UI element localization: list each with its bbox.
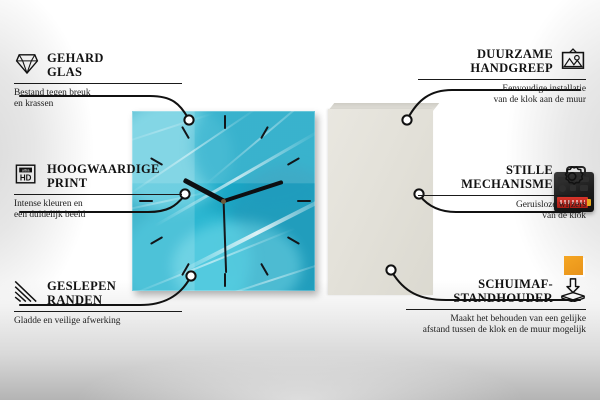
feature-rule — [14, 194, 182, 195]
feature-subtitle: Eenvoudige installatie van de klok aan d… — [418, 84, 586, 107]
diamond-icon — [14, 52, 40, 76]
svg-text:ultra: ultra — [22, 168, 31, 173]
gear-icon — [560, 164, 586, 188]
connector-dot-geslepen-randen — [186, 271, 195, 280]
feature-title: DUURZAME HANDGREEP — [470, 48, 553, 75]
feature-schuimafstandhouder: SCHUIMAF- STANDHOUDER Maakt het behouden… — [406, 278, 586, 337]
connector-dot-duurzame-handgreep — [402, 115, 411, 124]
feature-title: GESLEPEN RANDEN — [47, 280, 116, 307]
connector-dot-schuimafstandhouder — [386, 265, 395, 274]
hatched-triangle-icon — [14, 280, 40, 304]
ultra-hd-badge-icon: ultra HD — [14, 163, 40, 187]
picture-frame-icon — [560, 48, 586, 72]
feature-subtitle: Geruisloze wijzers van de klok — [418, 200, 586, 223]
feature-hoogwaardige-print: ultra HD HOOGWAARDIGE PRINT Intense kleu… — [14, 163, 182, 222]
feature-rule — [406, 309, 586, 310]
svg-text:HD: HD — [20, 173, 32, 182]
press-down-pad-icon — [560, 278, 586, 302]
feature-subtitle: Intense kleuren en een duidelijk beeld — [14, 199, 182, 222]
feature-geslepen-randen: GESLEPEN RANDEN Gladde en veilige afwerk… — [14, 280, 182, 327]
feature-rule — [418, 195, 586, 196]
feature-title: HOOGWAARDIGE PRINT — [47, 163, 160, 190]
feature-gehard-glas: GEHARD GLAS Bestand tegen breuk en krass… — [14, 52, 182, 111]
feature-stille-mechanisme: STILLE MECHANISME Geruisloze wijzers van… — [418, 164, 586, 223]
feature-rule — [14, 83, 182, 84]
feature-title: SCHUIMAF- STANDHOUDER — [453, 278, 553, 305]
feature-subtitle: Bestand tegen breuk en krassen — [14, 88, 182, 111]
feature-subtitle: Maakt het behouden van een gelijke afsta… — [406, 314, 586, 337]
feature-title: GEHARD GLAS — [47, 52, 104, 79]
feature-rule — [418, 79, 586, 80]
feature-duurzame-handgreep: DUURZAME HANDGREEP Eenvoudige installati… — [418, 48, 586, 107]
feature-rule — [14, 311, 182, 312]
connector-dot-gehard-glas — [184, 115, 193, 124]
infographic-stage: GEHARD GLAS Bestand tegen breuk en krass… — [0, 0, 600, 400]
feature-title: STILLE MECHANISME — [461, 164, 553, 191]
feature-subtitle: Gladde en veilige afwerking — [14, 316, 182, 327]
